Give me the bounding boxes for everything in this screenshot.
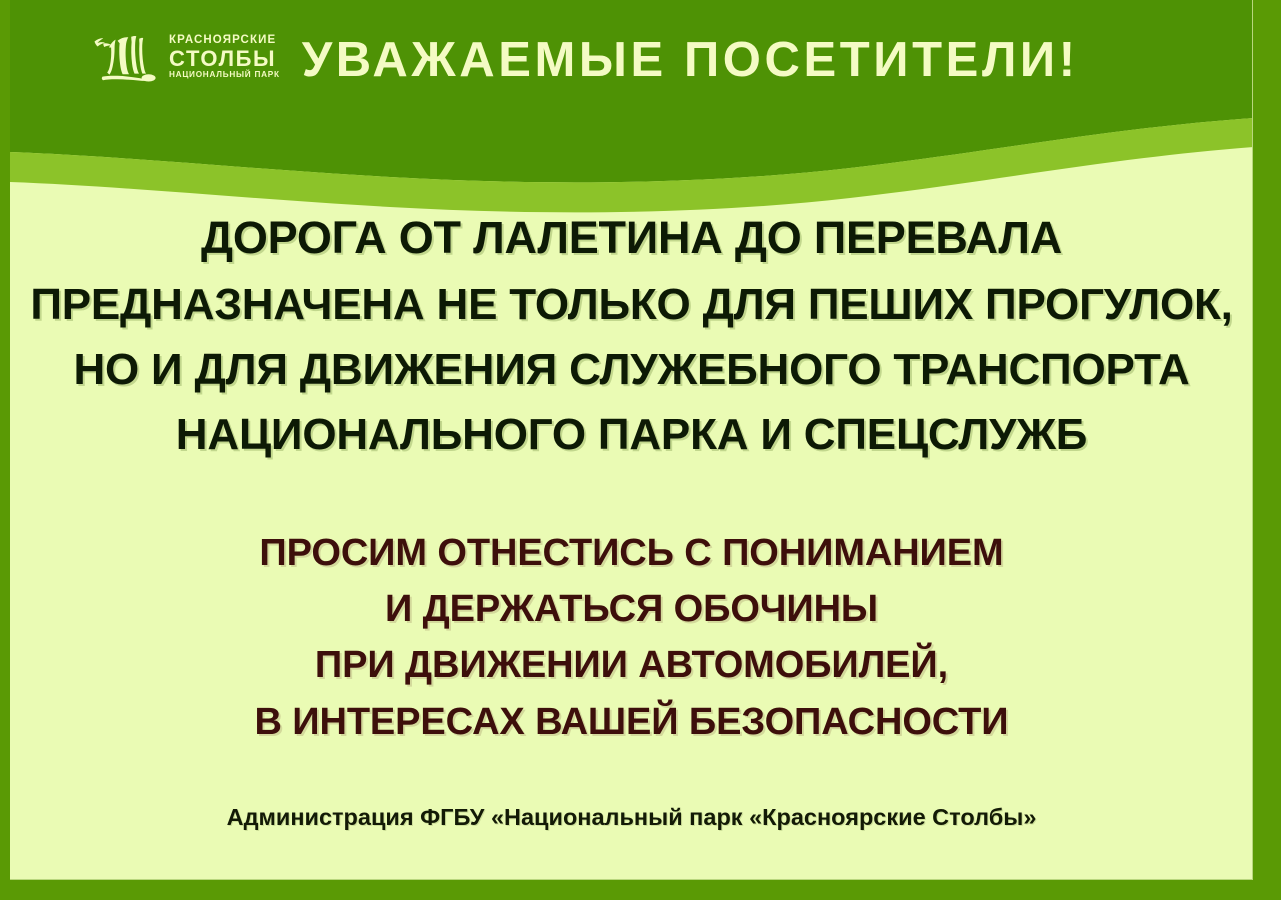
- secondary-message-line: И ДЕРЖАТЬСЯ ОБОЧИНЫ: [10, 581, 1253, 637]
- secondary-message-line: ПРОСИМ ОТНЕСТИСЬ С ПОНИМАНИЕМ: [10, 525, 1253, 581]
- park-logo: КРАСНОЯРСКИЕ СТОЛБЫ НАЦИОНАЛЬНЫЙ ПАРК: [88, 27, 280, 87]
- wave-light-shape: [10, 118, 1253, 212]
- secondary-message-line: ПРИ ДВИЖЕНИИ АВТОМОБИЛЕЙ,: [10, 637, 1253, 693]
- sign-panel: КРАСНОЯРСКИЕ СТОЛБЫ НАЦИОНАЛЬНЫЙ ПАРК УВ…: [10, 0, 1253, 880]
- sign-header: КРАСНОЯРСКИЕ СТОЛБЫ НАЦИОНАЛЬНЫЙ ПАРК УВ…: [10, 0, 1253, 120]
- logo-line-1: КРАСНОЯРСКИЕ: [169, 35, 280, 47]
- park-logo-text: КРАСНОЯРСКИЕ СТОЛБЫ НАЦИОНАЛЬНЫЙ ПАРК: [169, 35, 280, 79]
- logo-line-2: СТОЛБЫ: [169, 48, 280, 70]
- secondary-message: ПРОСИМ ОТНЕСТИСЬ С ПОНИМАНИЕМ И ДЕРЖАТЬС…: [10, 525, 1253, 750]
- rock-pillars-and-bird-icon: [88, 27, 162, 87]
- primary-message-line: ДОРОГА ОТ ЛАЛЕТИНА ДО ПЕРЕВАЛА: [10, 205, 1253, 272]
- page-title: УВАЖАЕМЫЕ ПОСЕТИТЕЛИ!: [302, 36, 1079, 85]
- information-sign: КРАСНОЯРСКИЕ СТОЛБЫ НАЦИОНАЛЬНЫЙ ПАРК УВ…: [0, 0, 1281, 900]
- secondary-message-line: В ИНТЕРЕСАХ ВАШЕЙ БЕЗОПАСНОСТИ: [10, 694, 1253, 750]
- primary-message-line: НАЦИОНАЛЬНОГО ПАРКА И СПЕЦСЛУЖБ: [10, 402, 1253, 467]
- primary-message-line: НО И ДЛЯ ДВИЖЕНИЯ СЛУЖЕБНОГО ТРАНСПОРТА: [10, 337, 1253, 402]
- sign-footer: Администрация ФГБУ «Национальный парк «К…: [10, 804, 1253, 831]
- sign-message: ДОРОГА ОТ ЛАЛЕТИНА ДО ПЕРЕВАЛА ПРЕДНАЗНА…: [10, 205, 1253, 750]
- message-spacer: [10, 467, 1253, 525]
- primary-message: ДОРОГА ОТ ЛАЛЕТИНА ДО ПЕРЕВАЛА ПРЕДНАЗНА…: [10, 205, 1253, 467]
- logo-line-3: НАЦИОНАЛЬНЫЙ ПАРК: [169, 71, 280, 79]
- primary-message-line: ПРЕДНАЗНАЧЕНА НЕ ТОЛЬКО ДЛЯ ПЕШИХ ПРОГУЛ…: [10, 272, 1253, 337]
